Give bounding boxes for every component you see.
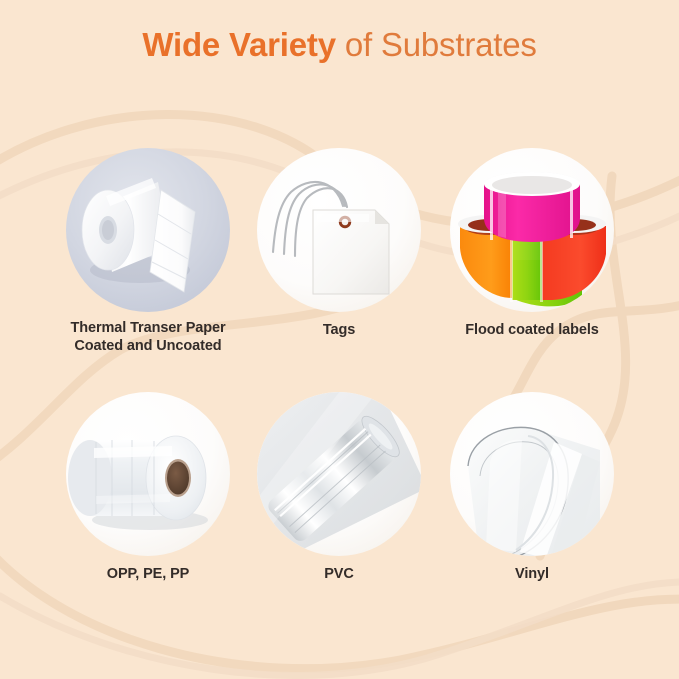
label-roll-icon	[66, 148, 230, 312]
color-label-rolls-icon	[450, 148, 614, 312]
item-card-vinyl[interactable]: Vinyl	[427, 392, 637, 584]
clear-sheet-roll-icon	[257, 392, 421, 556]
item-caption-line1: PVC	[234, 566, 444, 584]
item-image-disc	[66, 148, 230, 312]
clear-vinyl-roll-icon	[450, 392, 614, 556]
item-caption-line1: Thermal Transer Paper	[43, 320, 253, 338]
item-caption: PVC	[234, 566, 444, 584]
item-caption: Vinyl	[427, 566, 637, 584]
item-card-flood-coated-labels[interactable]: Flood coated labels	[427, 148, 637, 340]
item-caption-line2: Coated and Uncoated	[43, 338, 253, 356]
item-card-pvc[interactable]: PVC	[234, 392, 444, 584]
item-caption-line1: Vinyl	[427, 566, 637, 584]
item-image-disc	[66, 392, 230, 556]
item-card-thermal-transfer-paper[interactable]: Thermal Transer Paper Coated and Uncoate…	[43, 148, 253, 355]
item-image-disc	[257, 392, 421, 556]
hang-tag-icon	[257, 148, 421, 312]
film-roll-icon	[66, 392, 230, 556]
item-caption-line1: Tags	[234, 322, 444, 340]
item-caption: Flood coated labels	[427, 322, 637, 340]
item-caption: Thermal Transer Paper Coated and Uncoate…	[43, 320, 253, 355]
page-title: Wide Variety of Substrates	[0, 26, 679, 64]
page-title-light: of Substrates	[336, 26, 537, 63]
item-card-tags[interactable]: Tags	[234, 148, 444, 340]
item-caption: OPP, PE, PP	[43, 566, 253, 584]
item-card-opp-pe-pp[interactable]: OPP, PE, PP	[43, 392, 253, 584]
item-caption-line1: OPP, PE, PP	[43, 566, 253, 584]
item-image-disc	[450, 148, 614, 312]
item-caption: Tags	[234, 322, 444, 340]
item-image-disc	[450, 392, 614, 556]
page-title-strong: Wide Variety	[142, 26, 336, 63]
item-image-disc	[257, 148, 421, 312]
item-caption-line1: Flood coated labels	[427, 322, 637, 340]
